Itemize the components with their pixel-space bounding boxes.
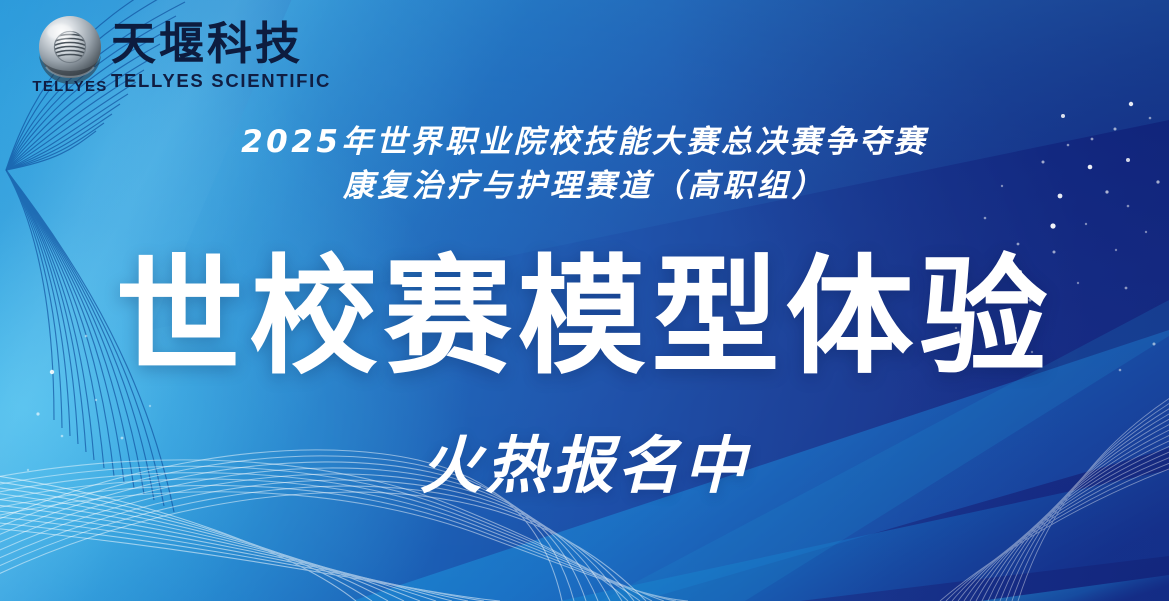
event-subtitle-line-1: 2025年世界职业院校技能大赛总决赛争夺赛 [0, 122, 1169, 162]
logo-mark-slot: TELLYES [33, 16, 105, 96]
event-subtitle-line-2: 康复治疗与护理赛道（高职组） [0, 166, 1169, 206]
logo-brand-en: TELLYES SCIENTIFIC [111, 71, 331, 91]
poster-headline: 世校赛模型体验 [0, 243, 1169, 393]
brand-logo[interactable]: TELLYES 天堰科技 TELLYES SCIENTIFIC [33, 16, 331, 96]
promo-poster: TELLYES 天堰科技 TELLYES SCIENTIFIC 2025年世界职… [0, 0, 1169, 601]
logo-brand-cn: 天堰科技 [111, 20, 331, 68]
logo-tellyes-tag: TELLYES [27, 78, 113, 95]
event-subtitle: 2025年世界职业院校技能大赛总决赛争夺赛 康复治疗与护理赛道（高职组） [0, 122, 1169, 206]
logo-wordmark: 天堰科技 TELLYES SCIENTIFIC [111, 20, 331, 91]
registration-cta[interactable]: 火热报名中 [0, 427, 1169, 505]
